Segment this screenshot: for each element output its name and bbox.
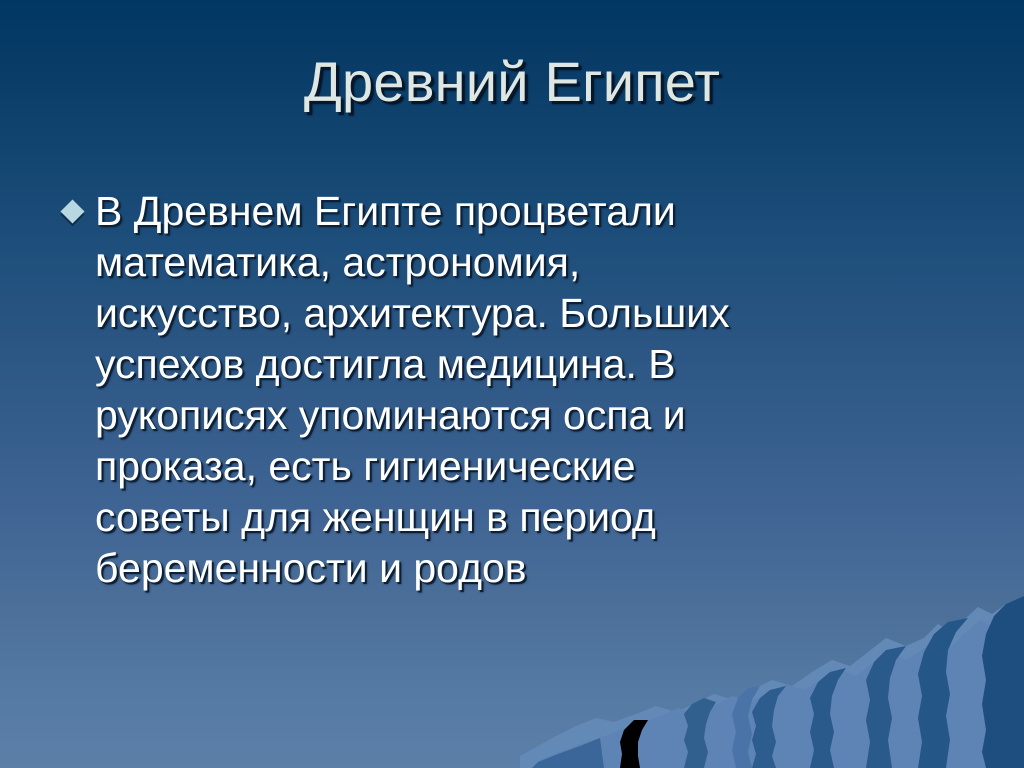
mountain-striation-b [918, 618, 968, 768]
mountain-subpeak [732, 686, 760, 768]
mountain-striation-a [982, 596, 1024, 768]
mountain-striation-e [752, 686, 786, 768]
mountain-striation-c [866, 646, 906, 768]
mountain-foot-shade [532, 738, 604, 768]
page-title: Древний Египет [304, 52, 720, 112]
list-item: В Древнем Египте процветали математика, … [60, 186, 920, 594]
title-block: Древний Египет [0, 52, 1024, 112]
presentation-slide: Древний Египет В Древнем Египте процвета… [0, 0, 1024, 768]
mountain-striation-f [684, 698, 716, 768]
mountain-striation-d [810, 668, 846, 768]
mountain-striation-g [620, 720, 648, 768]
mountain-back-ridge [520, 596, 1024, 768]
mountain-mid-ridge [532, 610, 1024, 768]
bullet-text: В Древнем Египте процветали математика, … [95, 186, 920, 594]
diamond-bullet-icon [60, 199, 86, 225]
body-content: В Древнем Египте процветали математика, … [60, 186, 920, 594]
